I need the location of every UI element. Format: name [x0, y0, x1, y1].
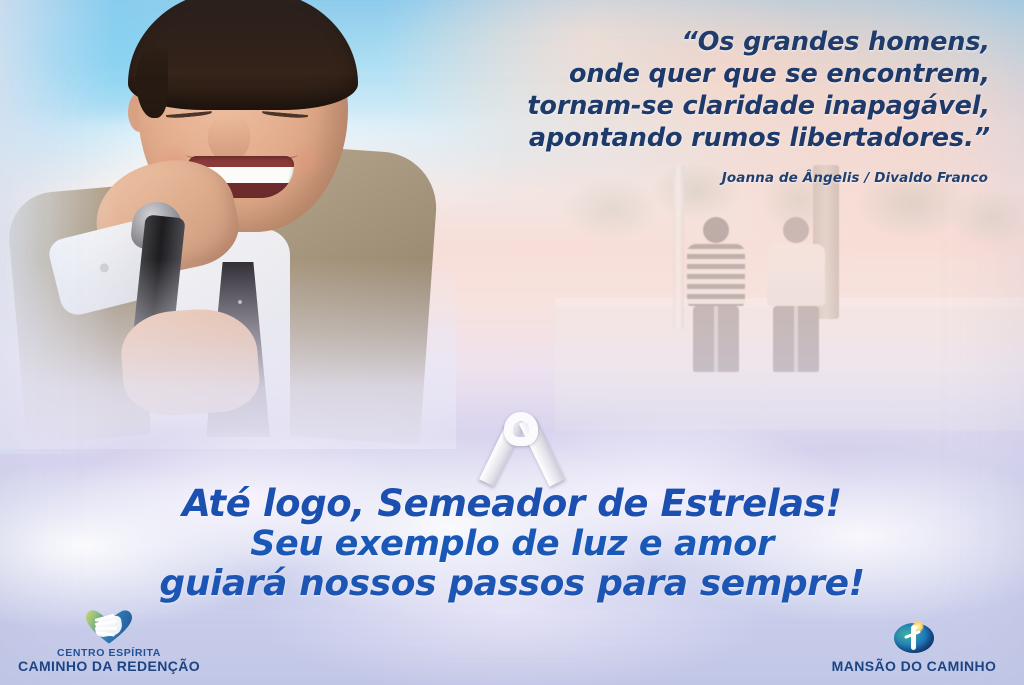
headline-line-1: Até logo, Semeador de Estrelas!: [0, 484, 1024, 524]
background-walker-white: [767, 217, 825, 372]
hand-finger: [95, 627, 117, 630]
quote-line-1: “Os grandes homens,: [370, 26, 990, 58]
logo-mansao-do-caminho: MANSÃO DO CAMINHO: [814, 620, 1014, 675]
portrait-bottom-fade: [0, 259, 456, 449]
logo-centro-espirita: CENTRO ESPÍRITA CAMINHO DA REDENÇÃO: [14, 609, 204, 675]
background-photo-walkers: [555, 165, 1024, 430]
headline-line-2: Seu exemplo de luz e amor: [0, 524, 1024, 564]
background-pole: [673, 165, 684, 329]
quote-text: “Os grandes homens, onde quer que se enc…: [370, 26, 990, 154]
tribute-headline: Até logo, Semeador de Estrelas! Seu exem…: [0, 484, 1024, 604]
walker-torso: [687, 244, 745, 306]
quote-line-4: apontando rumos libertadores.”: [370, 122, 990, 154]
walker-head: [703, 217, 729, 243]
quote-line-2: onde quer que se encontrem,: [370, 58, 990, 90]
memorial-poster: “Os grandes homens, onde quer que se enc…: [0, 0, 1024, 685]
walker-legs: [693, 306, 739, 372]
figure-body: [911, 628, 916, 650]
quote-attribution: Joanna de Ângelis / Divaldo Franco: [722, 170, 988, 186]
logo-line-2: MANSÃO DO CAMINHO: [814, 659, 1014, 675]
quote-line-3: tornam-se claridade inapagável,: [370, 90, 990, 122]
globe-figure-icon: [814, 620, 1014, 656]
hair: [128, 0, 358, 110]
walker-legs: [773, 306, 819, 372]
portrait-divaldo-franco: [10, 0, 430, 439]
walker-torso: [767, 244, 825, 306]
logo-text-block: MANSÃO DO CAMINHO: [814, 659, 1014, 675]
walker-head: [783, 217, 809, 243]
logo-line-2: CAMINHO DA REDENÇÃO: [14, 659, 204, 675]
heart-hand-icon: [14, 609, 204, 645]
mourning-ribbon-icon: [489, 412, 553, 488]
logo-text-block: CENTRO ESPÍRITA CAMINHO DA REDENÇÃO: [14, 648, 204, 675]
background-walker-striped: [687, 217, 745, 372]
ribbon-loop: [504, 412, 538, 446]
headline-line-3: guiará nossos passos para sempre!: [0, 564, 1024, 604]
